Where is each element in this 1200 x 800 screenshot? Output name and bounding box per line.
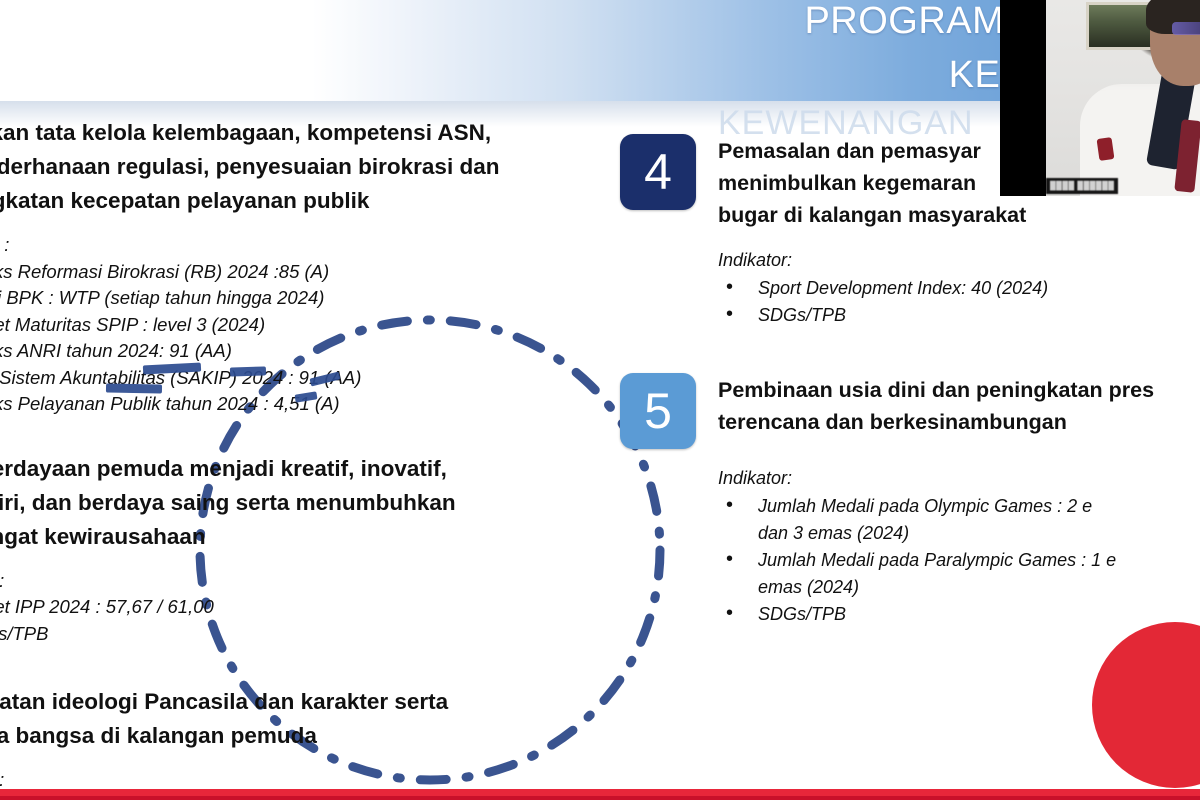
right-block-5: 5 Pembinaan usia dini dan peningkatan pr…	[620, 373, 1200, 628]
number-badge-4: 4	[620, 134, 696, 210]
block-4-indicator-label: Indikator:	[718, 247, 1200, 273]
block-5-indicator-list: Jumlah Medali pada Olympic Games : 2 e d…	[718, 493, 1200, 628]
block-2-indicator-label: kator:	[0, 568, 578, 595]
indicator-line: Indeks Reformasi Birokrasi (RB) 2024 :85…	[0, 259, 578, 286]
indicator-line: Nilai Sistem Akuntabilitas (SAKIP) 2024 …	[0, 365, 578, 392]
presentation-slide: PROGRAM PRIORITA KEMENPORA KEWENANGAN ba…	[0, 0, 1200, 800]
block-2-indicator-group: kator: Target IPP 2024 : 57,67 / 61,00 S…	[0, 568, 578, 648]
red-circle-decoration	[1092, 622, 1200, 788]
left-block-1: baikan tata kelola kelembagaan, kompeten…	[0, 116, 578, 418]
block-4-indicator-list: Sport Development Index: 40 (2024) SDGs/…	[718, 275, 1200, 329]
block-1-indicator-group: cator : Indeks Reformasi Birokrasi (RB) …	[0, 232, 578, 418]
indicator-line: Indeks Pelayanan Publik tahun 2024 : 4,5…	[0, 391, 578, 418]
left-block-3: nguatan ideologi Pancasila dan karakter …	[0, 685, 578, 800]
number-badge-5: 5	[620, 373, 696, 449]
list-item: SDGs/TPB	[718, 302, 1200, 329]
block-1-lead-text: baikan tata kelola kelembagaan, kompeten…	[0, 116, 578, 218]
webcam-overlay[interactable]: ████ ██████	[1000, 0, 1200, 196]
jacket-logo	[1097, 137, 1115, 161]
list-item: Jumlah Medali pada Paralympic Games : 1 …	[718, 547, 1200, 601]
block-5-heading: Pembinaan usia dini dan peningkatan pres…	[718, 373, 1154, 438]
left-content-column: baikan tata kelola kelembagaan, kompeten…	[0, 112, 578, 800]
list-item: Jumlah Medali pada Olympic Games : 2 e d…	[718, 493, 1200, 547]
indicator-line: Target Maturitas SPIP : level 3 (2024)	[0, 312, 578, 339]
block-4-heading: Pemasalan dan pemasyar menimbulkan kegem…	[718, 134, 1026, 231]
left-block-2: mberdayaan pemuda menjadi kreatif, inova…	[0, 452, 578, 648]
block-1-indicator-label: cator :	[0, 232, 578, 259]
block-2-lead-text: mberdayaan pemuda menjadi kreatif, inova…	[0, 452, 578, 554]
list-item: SDGs/TPB	[718, 601, 1200, 628]
indicator-line: Indeks ANRI tahun 2024: 91 (AA)	[0, 338, 578, 365]
footer-red-bar-shadow	[0, 796, 1200, 800]
webcam-video-feed[interactable]	[1046, 0, 1200, 196]
indicator-line: Opini BPK : WTP (setiap tahun hingga 202…	[0, 285, 578, 312]
indicator-line: Target IPP 2024 : 57,67 / 61,00	[0, 594, 578, 621]
indicator-line: SDGs/TPB	[0, 621, 578, 648]
block-3-lead-text: nguatan ideologi Pancasila dan karakter …	[0, 685, 578, 753]
participant-glasses	[1172, 22, 1200, 35]
block-5-indicator-label: Indikator:	[718, 465, 1200, 491]
block-5-heading-row: 5 Pembinaan usia dini dan peningkatan pr…	[620, 373, 1200, 449]
participant-name-label: ████ ██████	[1046, 178, 1118, 194]
list-item: Sport Development Index: 40 (2024)	[718, 275, 1200, 302]
